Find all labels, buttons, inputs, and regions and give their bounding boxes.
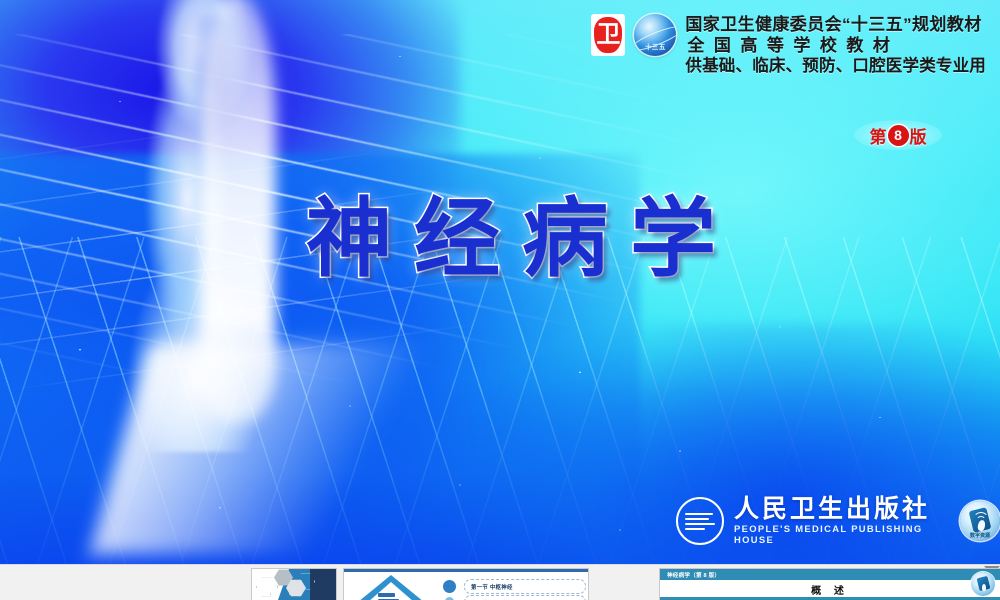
- presentation-viewer: 卫 十三五 国家卫生健康委员会“十三五”规划教材 全国高等学校教材 供基础、临床…: [0, 0, 1000, 600]
- thumbnail-slide-2[interactable]: 第一节 中枢神经 第二节 周围神经: [344, 569, 588, 600]
- national-health-commission-seal-icon: 卫: [591, 14, 625, 56]
- thumb2-item-pill-2: 第二节 周围神经: [464, 595, 586, 600]
- header-line-3: 供基础、临床、预防、口腔医学类专业用: [685, 57, 986, 76]
- thumb3-digital-resource-icon: [971, 572, 995, 596]
- edition-prefix: 第: [870, 123, 887, 148]
- five-year-plan-globe-icon: 十三五: [634, 14, 676, 56]
- thumb2-bullet-dot: [443, 580, 456, 593]
- thumbnail-slide-1[interactable]: [252, 569, 336, 600]
- edition-number: 8: [888, 125, 909, 146]
- seal-glyph: 卫: [591, 14, 625, 56]
- digital-resource-icon: 数字资源: [960, 501, 1000, 541]
- header-text-lines: 国家卫生健康委员会“十三五”规划教材 全国高等学校教材 供基础、临床、预防、口腔…: [685, 14, 986, 77]
- slide-canvas[interactable]: 卫 十三五 国家卫生健康委员会“十三五”规划教材 全国高等学校教材 供基础、临床…: [0, 0, 1000, 564]
- header-line-1: 国家卫生健康委员会“十三五”规划教材: [685, 15, 986, 35]
- edition-suffix: 版: [910, 123, 927, 148]
- thumb1-dark-wedge: [310, 569, 336, 600]
- digital-resource-label: 数字资源: [960, 532, 1000, 539]
- publisher-logo-icon: [676, 497, 724, 545]
- publisher-block: 人民卫生出版社 PEOPLE'S MEDICAL PUBLISHING HOUS…: [676, 496, 1000, 545]
- thumb2-logo-bars: [378, 593, 399, 600]
- edition-badge: 第 8 版: [854, 120, 942, 150]
- thumb2-top-bar: [344, 569, 588, 572]
- textbook-header-block: 卫 十三五 国家卫生健康委员会“十三五”规划教材 全国高等学校教材 供基础、临床…: [591, 14, 986, 77]
- thumb3-header-label: 神经病学（第 8 版）: [660, 571, 720, 579]
- thumb3-finger-shape: [982, 584, 986, 591]
- publisher-name-en: PEOPLE'S MEDICAL PUBLISHING HOUSE: [734, 523, 950, 545]
- slide-title: 神经病学: [0, 196, 1000, 282]
- globe-label: 十三五: [634, 41, 676, 51]
- thumbnail-slide-3[interactable]: 神经病学（第 8 版） 概 述: [660, 569, 1000, 600]
- thumb2-item-pill-1: 第一节 中枢神经: [464, 579, 586, 594]
- header-line-2: 全国高等学校教材: [685, 36, 986, 56]
- publisher-name-cn: 人民卫生出版社: [734, 496, 950, 522]
- slide-thumbnail-strip[interactable]: 第一节 中枢神经 第二节 周围神经 神经病学（第 8 版） 概 述: [0, 564, 1000, 600]
- publisher-text: 人民卫生出版社 PEOPLE'S MEDICAL PUBLISHING HOUS…: [734, 496, 950, 545]
- strip-divider: [0, 564, 1000, 565]
- thumb3-header-bar: 神经病学（第 8 版）: [660, 569, 1000, 580]
- thumb3-title: 概 述: [660, 582, 1000, 597]
